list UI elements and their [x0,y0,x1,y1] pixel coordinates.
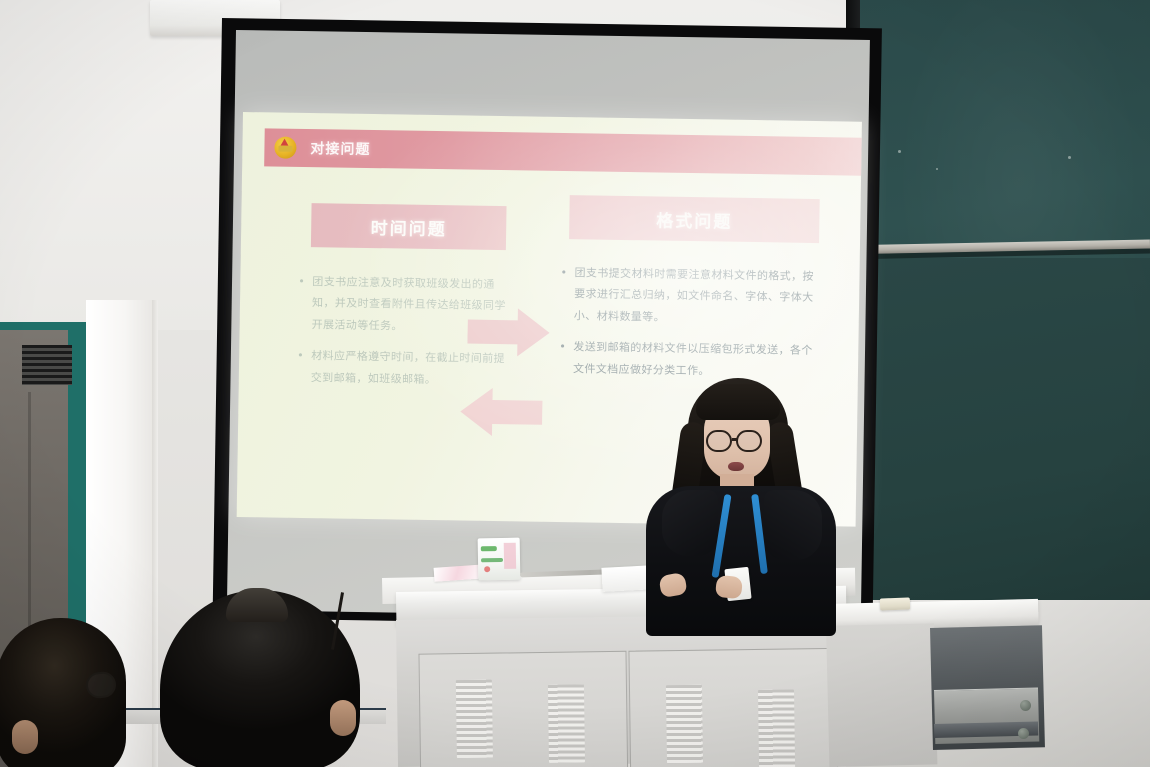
chalk-dust-mark [936,168,938,170]
tissue-box [478,538,521,581]
vent-louver [666,685,703,763]
podium-cabinet-door-right[interactable] [628,648,838,767]
audience-right-ear [330,700,356,736]
audience-left-ear [12,720,38,754]
podium-front-panel [396,614,848,767]
hand-right [715,575,743,600]
arrow-left-icon [460,387,543,436]
arrow-right-icon [467,308,550,357]
chalkboard-lower-panel [858,258,1150,608]
list-item: 团支书提交材料时需要注意材料文件的格式，按要求进行汇总归纳，如文件命名、字体、字… [560,262,823,330]
mouth [728,462,744,471]
equipment-knob[interactable] [1018,728,1029,739]
glasses-lens-right [736,430,762,452]
equipment-knob[interactable] [1020,700,1031,711]
slide-bullets-right: 团支书提交材料时需要注意材料文件的格式，按要求进行汇总归纳，如文件命名、字体、字… [559,262,823,393]
slide-title-bar: 对接问题 [264,128,862,176]
slide-title: 对接问题 [310,138,370,159]
hood-right [764,490,822,560]
wall-column-edge [152,300,158,767]
classroom-photo-scene: 对接问题 时间问题 格式问题 团支书应注意及时获取班级发出的通知，并及时查看附件… [0,0,1150,767]
slide-column-heading-left-text: 时间问题 [371,214,447,240]
vent-louver [548,684,585,762]
vent-louver [456,680,493,758]
vent-louver [758,689,795,767]
side-cabinet-body [826,623,937,767]
slide-column-heading-right: 格式问题 [569,195,820,243]
chalk-dust-mark [898,150,901,153]
slide-column-heading-left: 时间问题 [311,203,507,250]
chalk-dust-mark [1068,156,1071,159]
glasses-bridge [732,438,738,441]
hair-fringe [696,384,780,420]
door-vent-grille [22,345,72,385]
upper-left-wall [0,0,240,330]
podium-cabinet-door-left[interactable] [418,651,628,767]
communist-youth-league-emblem-icon [274,136,296,158]
slide-column-heading-right-text: 格式问题 [656,206,732,232]
hood-left [662,490,718,556]
presenter [640,378,840,628]
list-item: 发送到邮箱的材料文件以压缩包形式发送，各个文件文档应做好分类工作。 [559,336,822,383]
glasses-lens-left [706,430,732,452]
chalkboard-eraser [880,597,910,610]
